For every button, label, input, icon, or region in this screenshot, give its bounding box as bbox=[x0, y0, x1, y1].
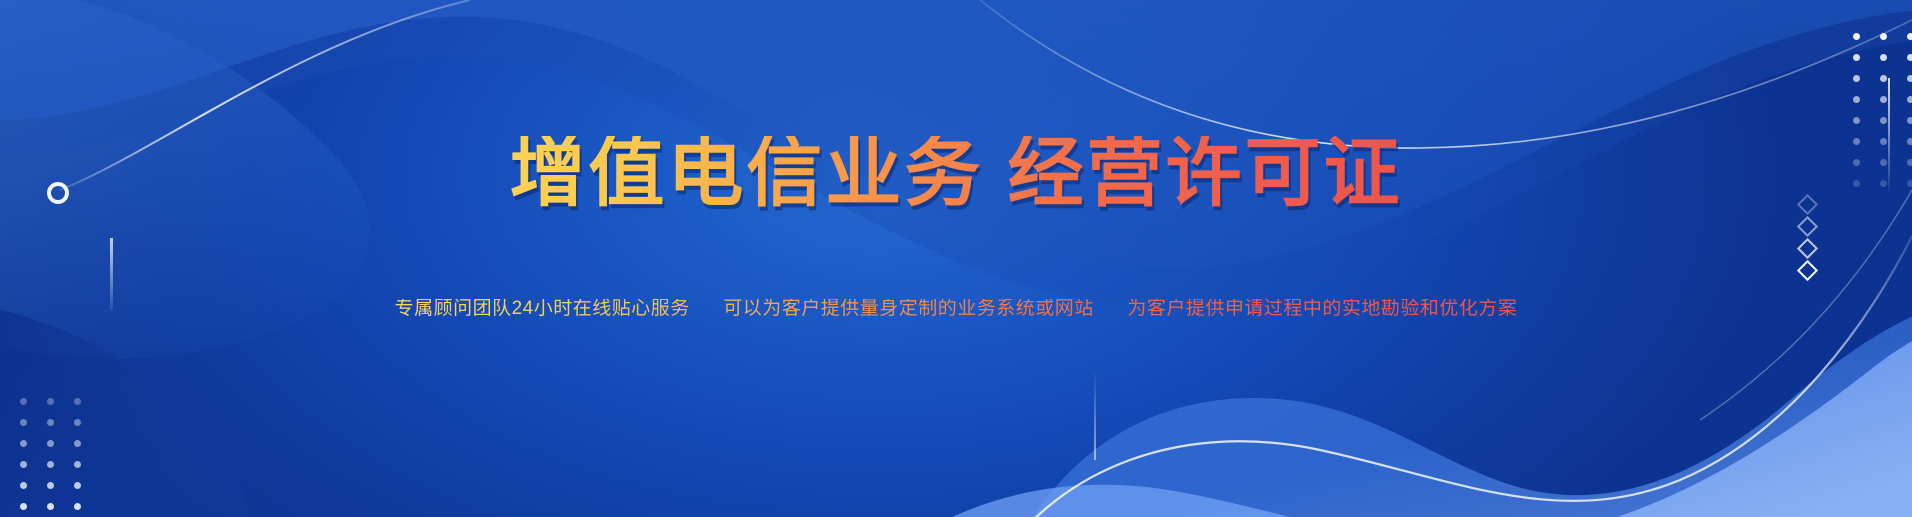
banner-content: 增值电信业务 经营许可证 专属顾问团队24小时在线贴心服务 可以为客户提供量身定… bbox=[0, 0, 1912, 517]
promo-banner: 增值电信业务 经营许可证 专属顾问团队24小时在线贴心服务 可以为客户提供量身定… bbox=[0, 0, 1912, 517]
page-title: 增值电信业务 经营许可证 bbox=[509, 136, 1402, 212]
subtitle-part-1: 专属顾问团队24小时在线贴心服务 bbox=[395, 298, 690, 319]
subtitle-part-2: 可以为客户提供量身定制的业务系统或网站 bbox=[723, 298, 1094, 319]
banner-subtitle: 专属顾问团队24小时在线贴心服务 可以为客户提供量身定制的业务系统或网站 为客户… bbox=[395, 299, 1518, 318]
subtitle-part-3: 为客户提供申请过程中的实地勘验和优化方案 bbox=[1127, 298, 1517, 319]
